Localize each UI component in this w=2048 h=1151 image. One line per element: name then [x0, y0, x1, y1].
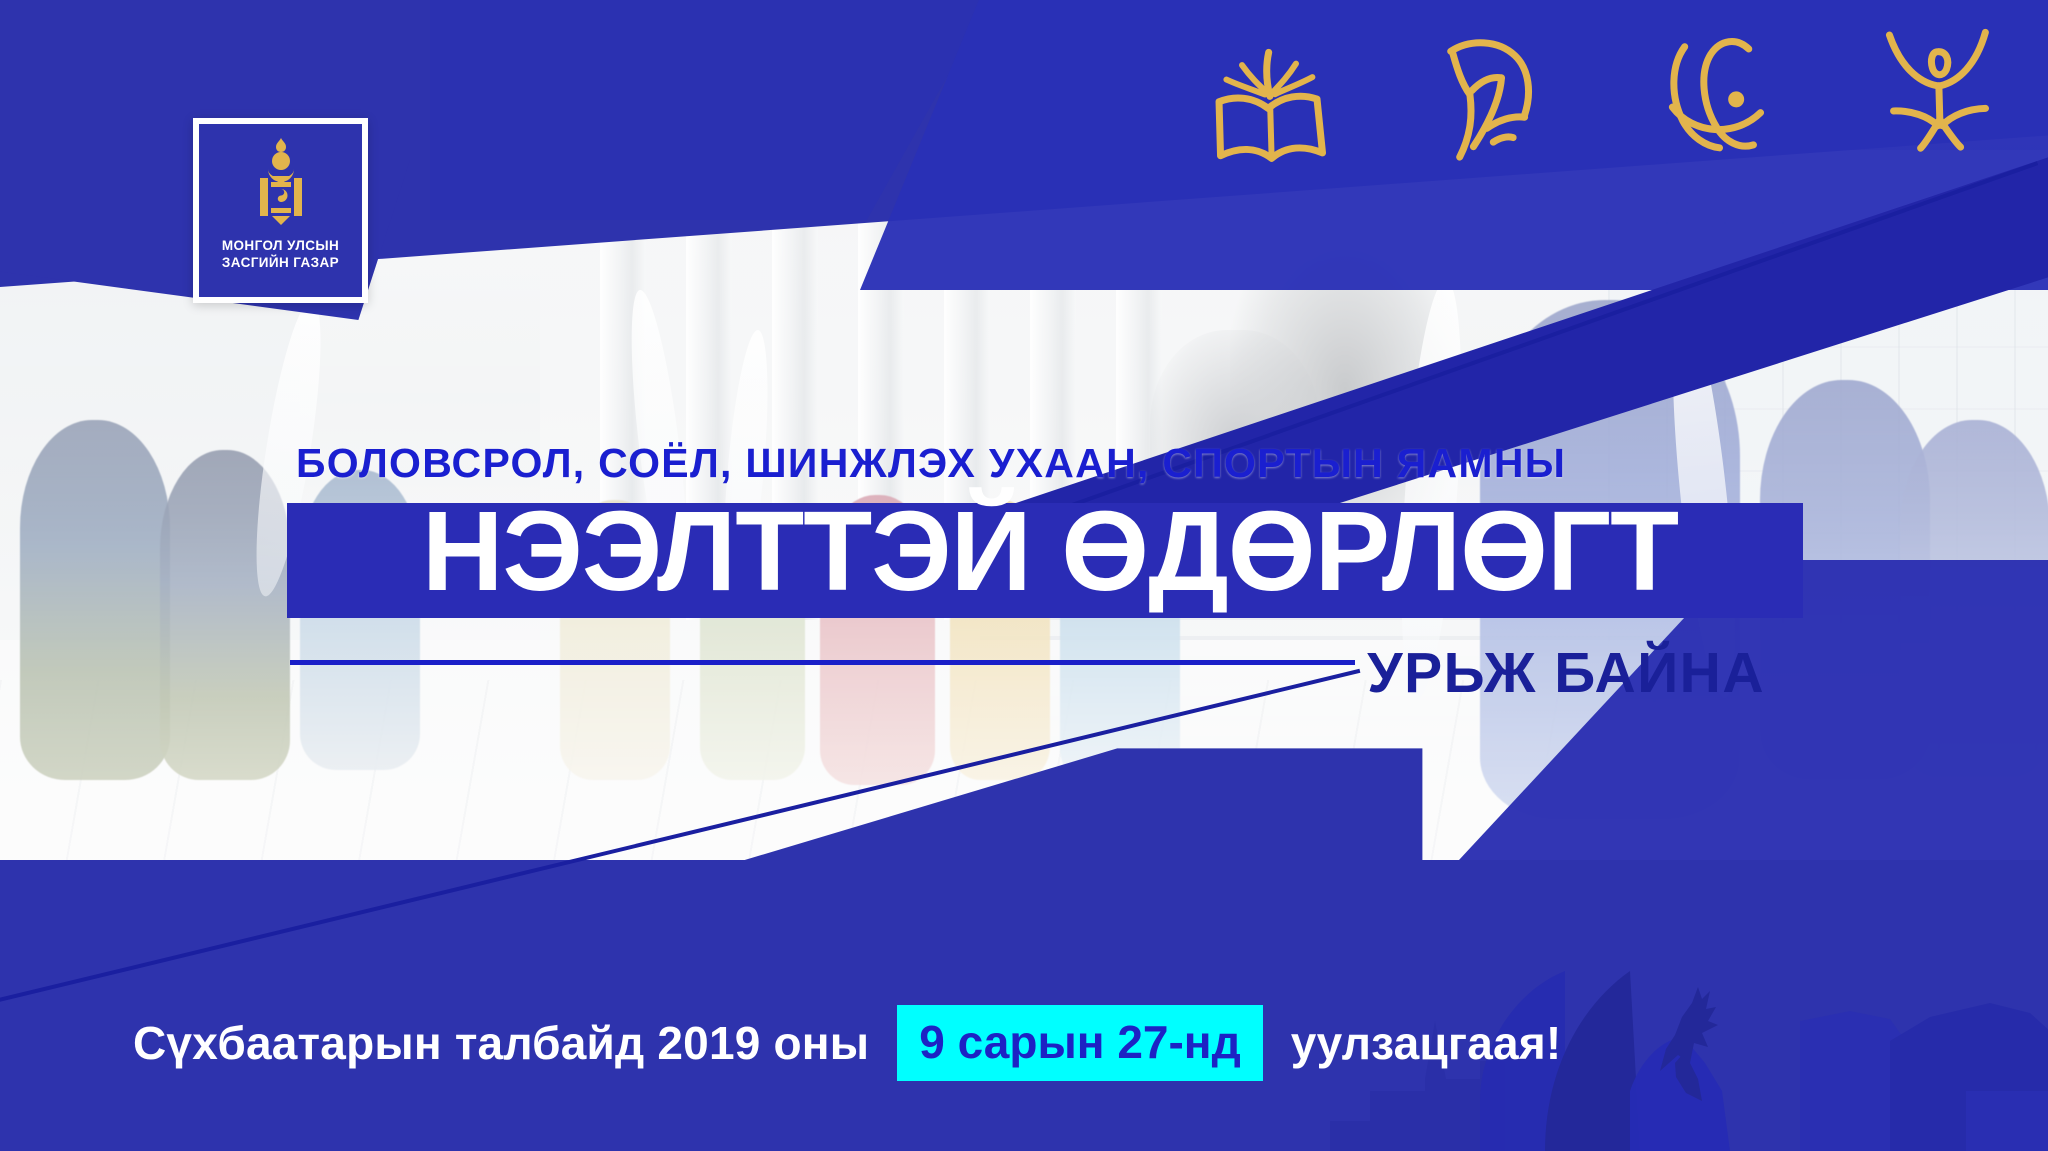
soyombo-emblem-icon	[250, 136, 312, 232]
logo-line-1: МОНГОЛ УЛСЫН	[222, 238, 339, 255]
ministry-icons-row	[1203, 9, 2007, 181]
government-logo-inner: МОНГОЛ УЛСЫН ЗАСГИЙН ГАЗАР	[199, 124, 362, 297]
government-logo-card: МОНГОЛ УЛСЫН ЗАСГИЙН ГАЗАР	[193, 118, 368, 303]
headline-title: НЭЭЛТТЭЙ ӨДӨРЛӨГТ	[300, 495, 1800, 608]
atom-icon	[1650, 20, 1784, 164]
poster-canvas: МОНГОЛ УЛСЫН ЗАСГИЙН ГАЗАР	[0, 0, 2048, 1151]
headline-kicker: БОЛОВСРОЛ, СОЁЛ, ШИНЖЛЭХ УХААН, СПОРТЫН …	[296, 440, 1566, 487]
footer-line: Сүхбаатарын талбайд 2019 оны 9 сарын 27-…	[133, 1005, 1561, 1081]
logo-line-2: ЗАСГИЙН ГАЗАР	[222, 255, 339, 272]
event-date-chip: 9 сарын 27-нд	[897, 1005, 1263, 1081]
horse-icon	[1426, 26, 1560, 170]
athlete-icon	[1873, 14, 2007, 158]
headline-subtitle: УРЬЖ БАЙНА	[0, 640, 1765, 706]
footer-post-text: уулзацгаая!	[1291, 1016, 1562, 1070]
book-icon	[1203, 33, 1337, 177]
footer-pre-text: Сүхбаатарын талбайд 2019 оны	[133, 1016, 869, 1070]
logo-text-block: МОНГОЛ УЛСЫН ЗАСГИЙН ГАЗАР	[222, 238, 339, 272]
